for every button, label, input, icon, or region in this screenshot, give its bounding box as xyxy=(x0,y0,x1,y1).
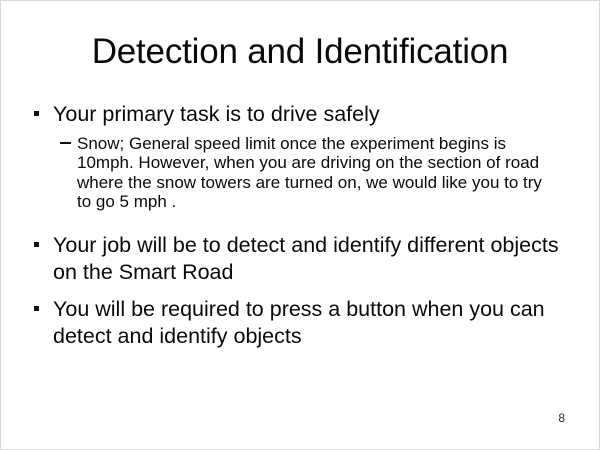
bullet-item-3: You will be required to press a button w… xyxy=(1,296,600,350)
square-bullet-icon xyxy=(34,242,39,247)
bullet-item-1-label: Your primary task is to drive safely xyxy=(53,101,583,128)
bullet-item-3-label: You will be required to press a button w… xyxy=(53,296,583,350)
bullet-item-2-label: Your job will be to detect and identify … xyxy=(53,232,583,286)
bullet-item-1: Your primary task is to drive safely xyxy=(1,101,600,128)
square-bullet-icon xyxy=(34,111,39,116)
sub-bullet-item-1-label: Snow; General speed limit once the exper… xyxy=(77,134,543,212)
square-bullet-icon xyxy=(34,306,39,311)
spacer xyxy=(1,220,600,232)
sub-bullet-item-1: Snow; General speed limit once the exper… xyxy=(1,134,600,212)
bullet-item-2: Your job will be to detect and identify … xyxy=(1,232,600,286)
page-title: Detection and Identification xyxy=(1,32,599,72)
slide-body: Your primary task is to drive safely Sno… xyxy=(1,101,600,352)
page-number: 8 xyxy=(558,411,565,425)
dash-bullet-icon xyxy=(60,142,71,144)
slide-canvas: Detection and Identification Your primar… xyxy=(0,0,600,450)
spacer xyxy=(1,288,600,296)
